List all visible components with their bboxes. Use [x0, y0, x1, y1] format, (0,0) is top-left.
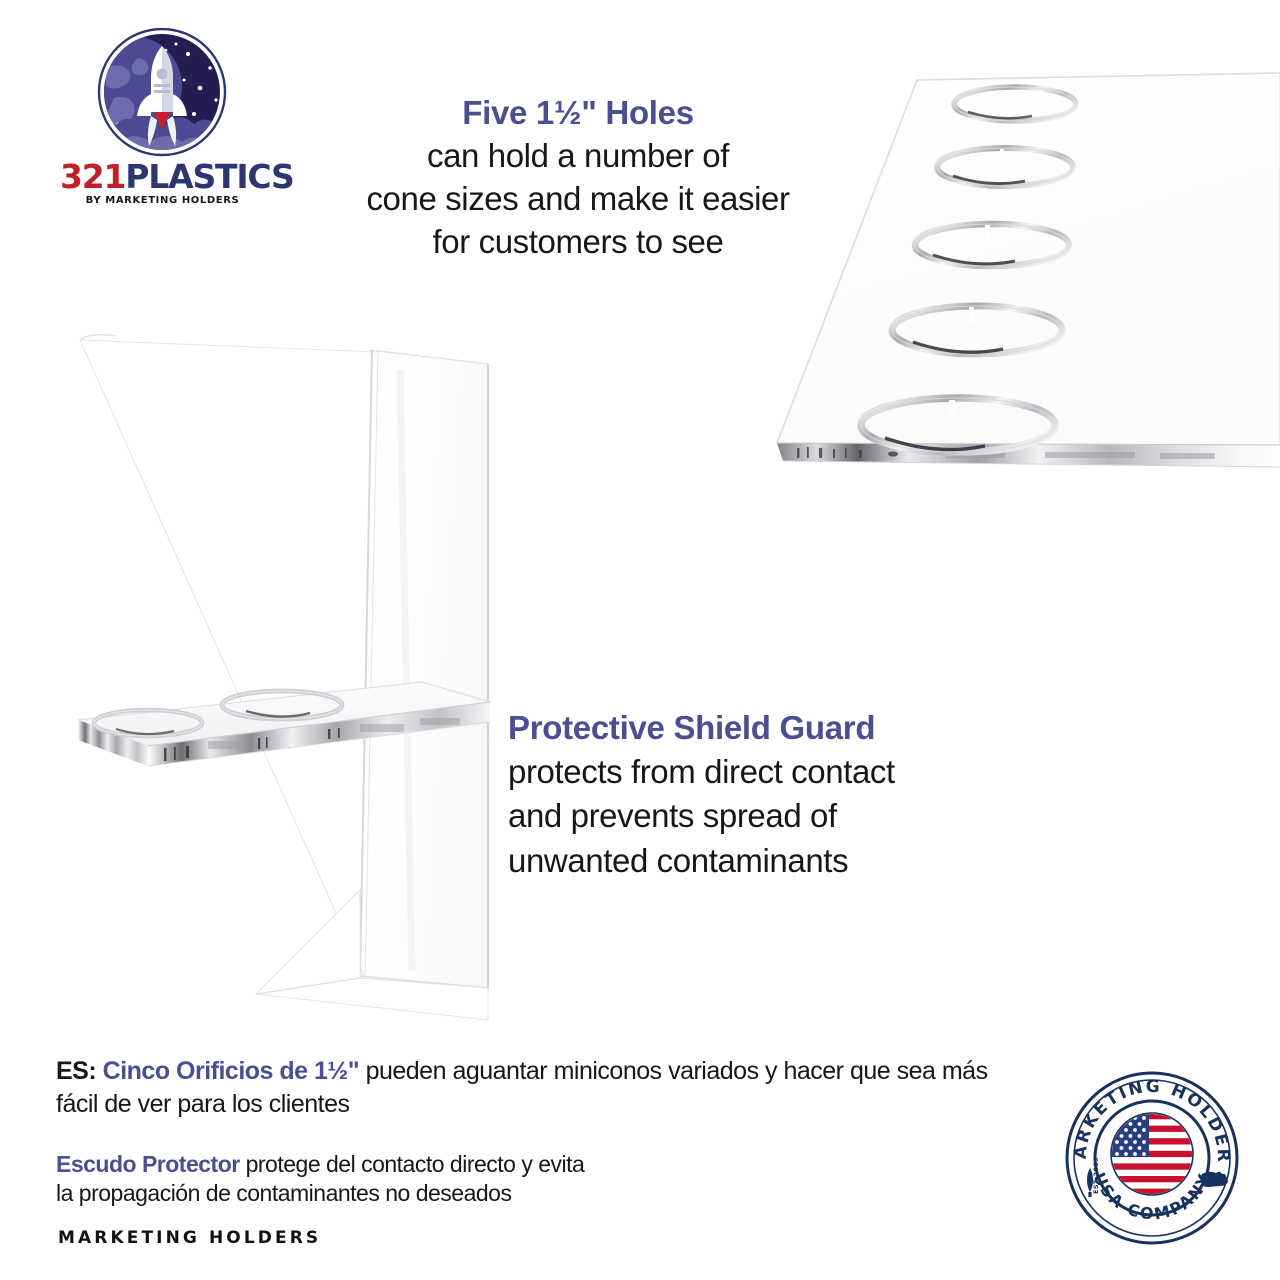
- callout-five-holes-line-3: for customers to see: [268, 221, 888, 264]
- spanish-paragraph-shield: Escudo Protector protege del contacto di…: [56, 1150, 1006, 1208]
- callout-shield-guard-line-1: protects from direct contact: [508, 750, 1028, 794]
- brand-wordmark-top: 321PLASTICS: [60, 160, 265, 193]
- callout-shield-guard-title: Protective Shield Guard: [508, 706, 1028, 750]
- brand-logo: 321PLASTICS BY MARKETING HOLDERS: [60, 28, 265, 208]
- callout-five-holes-line-1: can hold a number of: [268, 135, 888, 178]
- callout-shield-guard-line-2: and prevents spread of: [508, 794, 1028, 838]
- rocket-globe-emblem-icon: [88, 28, 236, 161]
- brand-wordmark: 321PLASTICS BY MARKETING HOLDERS: [60, 160, 265, 206]
- callout-five-holes-title: Five 1½" Holes: [268, 92, 888, 135]
- acrylic-shield-guard-image: [60, 330, 530, 1030]
- spanish-translation-block: ES: Cinco Orificios de 1½" pueden aguant…: [56, 1055, 1006, 1208]
- spanish-lead-label: ES:: [56, 1057, 96, 1085]
- callout-shield-guard: Protective Shield Guard protects from di…: [508, 706, 1028, 883]
- callout-five-holes-line-2: cone sizes and make it easier: [268, 178, 888, 221]
- usa-company-seal-icon: MARKETING HOLDERS USA COMPANY: [1062, 1068, 1242, 1248]
- spanish-highlight-holes: Cinco Orificios de 1½": [103, 1057, 359, 1085]
- usa-flag-circle-icon: [1111, 1113, 1193, 1195]
- brand-wordmark-number: 321: [60, 157, 125, 196]
- spanish-body-shield-line-2: la propagación de contaminantes no desea…: [56, 1180, 511, 1206]
- brand-wordmark-sub: BY MARKETING HOLDERS: [60, 196, 265, 206]
- spanish-highlight-shield: Escudo Protector: [56, 1151, 240, 1177]
- spanish-body-shield-line-1: protege del contacto directo y evita: [240, 1151, 585, 1177]
- shield-panel: [80, 335, 490, 1020]
- footer-brand-text: MARKETING HOLDERS: [58, 1228, 321, 1248]
- svg-text:EST 2009: EST 2009: [1092, 1157, 1100, 1194]
- spanish-paragraph-holes: ES: Cinco Orificios de 1½" pueden aguant…: [56, 1055, 1006, 1120]
- callout-shield-guard-line-3: unwanted contaminants: [508, 839, 1028, 883]
- callout-five-holes: Five 1½" Holes can hold a number of cone…: [268, 92, 888, 264]
- usa-map-icon: [1201, 1172, 1228, 1187]
